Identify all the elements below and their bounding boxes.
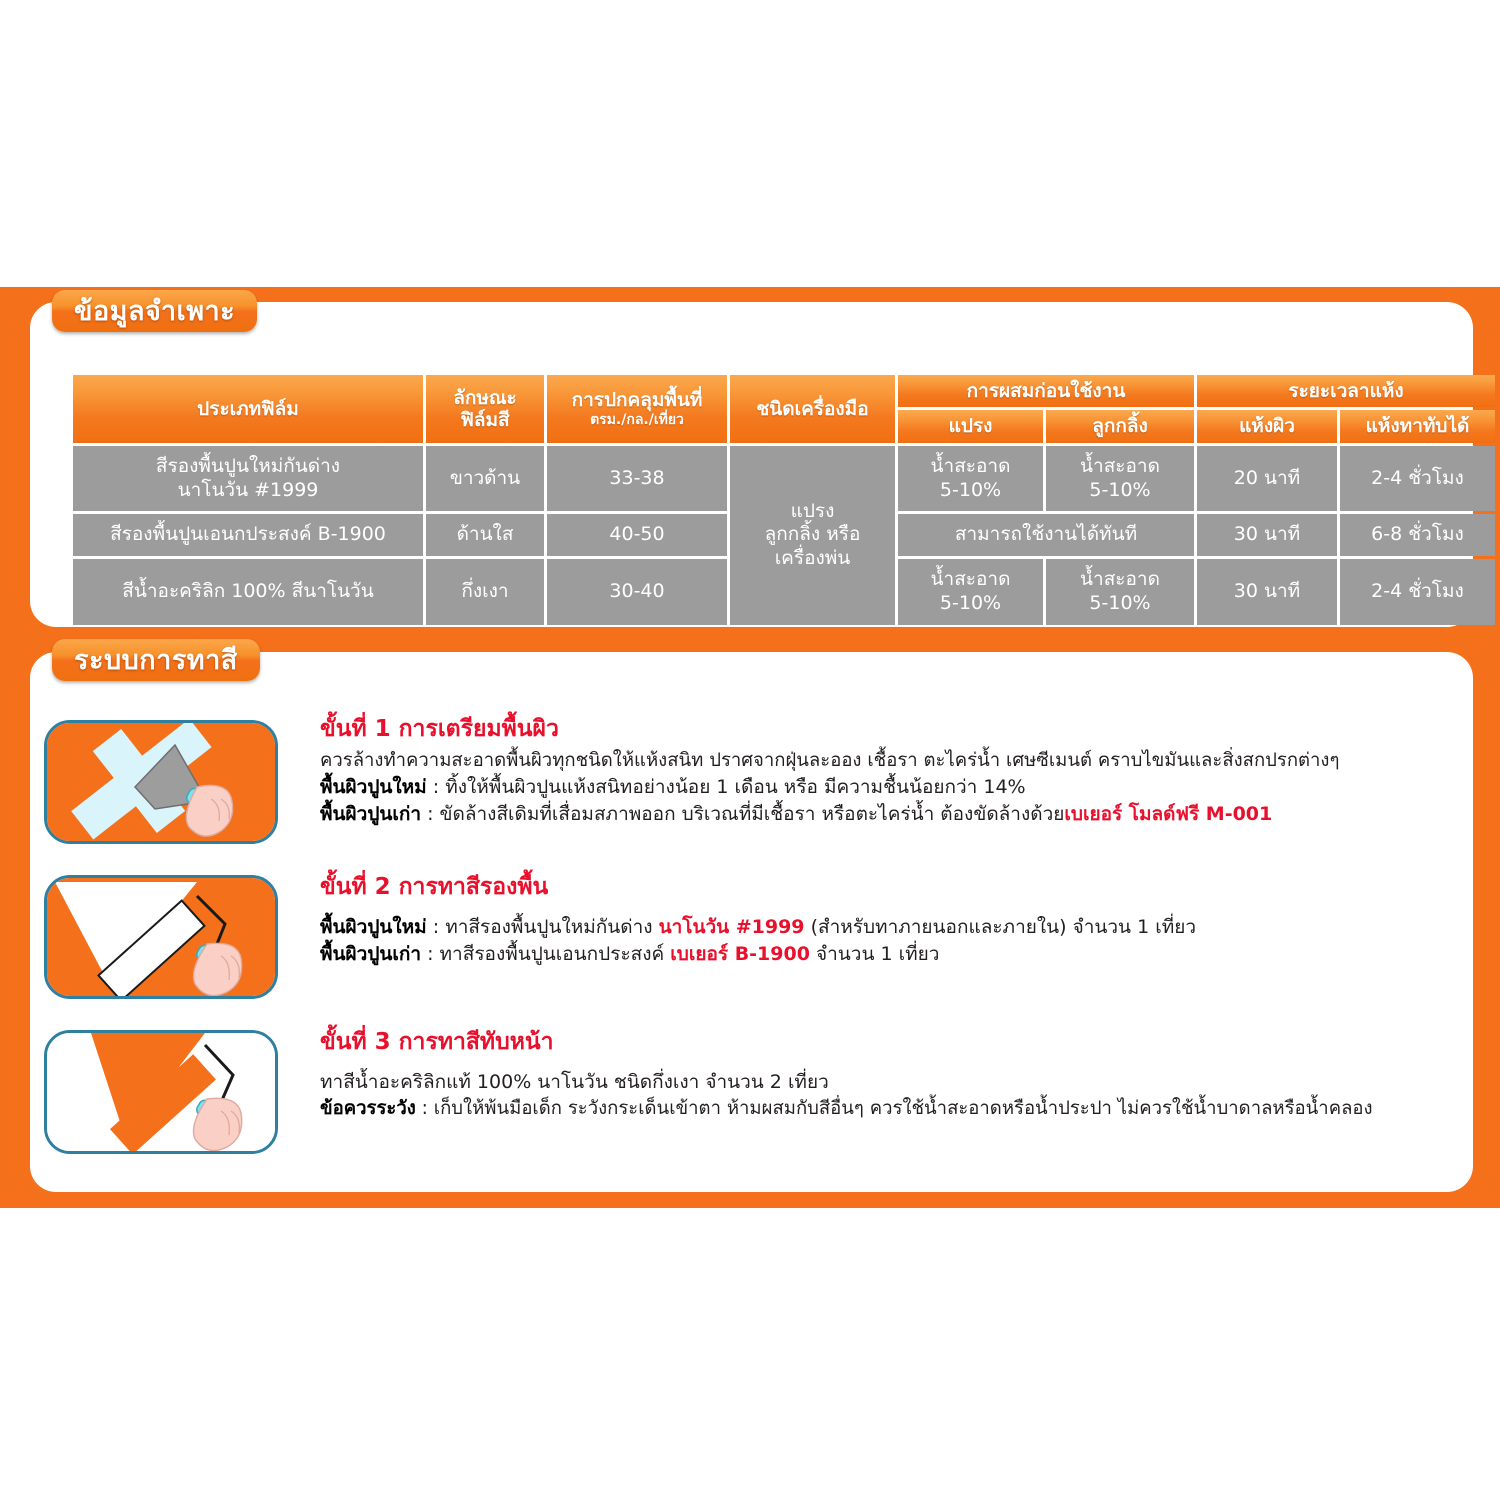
step-2-line-2-highlight: เบเยอร์ B-1900 — [670, 943, 810, 965]
product-name-line2: นาโนวัน #1999 — [178, 479, 319, 501]
step-2-line-2: พื้นผิวปูนเก่า : ทาสีรองพื้นปูนเอนกประสง… — [320, 941, 1196, 968]
step-2-title: ขั้นที่ 2 การทาสีรองพื้น — [320, 874, 1196, 902]
cell-coverage: 33-38 — [547, 446, 727, 512]
step-1-line-1: ควรล้างทำความสะอาดพื้นผิวทุกชนิดให้แห้งส… — [320, 748, 1339, 774]
step-3-body: ขั้นที่ 3 การทาสีทับหน้า ทาสีน้ำอะคริลิก… — [320, 1029, 1373, 1122]
header-mixing-group: การผสมก่อนใช้งาน — [898, 375, 1194, 407]
cell-dry-recoat: 2-4 ชั่วโมง — [1340, 559, 1495, 625]
roller-line1: น้ำสะอาด — [1080, 455, 1160, 477]
step-2-line-2-sep: : — [427, 943, 433, 965]
step-2-line-1: พื้นผิวปูนใหม่ : ทาสีรองพื้นปูนใหม่กันด่… — [320, 914, 1196, 941]
painting-system-panel: ระบบการทาสี ขั้นที่ 1 การเตรียมพื้น — [30, 652, 1473, 1192]
header-film-look-line2: ฟิล์มสี — [460, 409, 509, 431]
roller-line1: น้ำสะอาด — [1080, 568, 1160, 590]
tool-line2: ลูกกลิ้ง หรือ — [765, 523, 861, 545]
header-coverage: การปกคลุมพื้นที่ ตรม./กล./เที่ยว — [547, 375, 727, 443]
cell-product-name: สีรองพื้นปูนเอนกประสงค์ B-1900 — [73, 514, 423, 556]
header-drying-group: ระยะเวลาแห้ง — [1197, 375, 1495, 407]
step-2-line-1-tail: (สำหรับทาภายนอกและภายใน) จำนวน 1 เที่ยว — [805, 916, 1197, 938]
roller-primer-hand-icon — [44, 875, 278, 999]
cell-mixing-brush: น้ำสะอาด 5-10% — [898, 559, 1043, 625]
step-3-title: ขั้นที่ 3 การทาสีทับหน้า — [320, 1029, 1373, 1057]
step-1-line-3-text: ขัดล้างสีเดิมที่เสื่อมสภาพออก บริเวณที่ม… — [440, 803, 1065, 825]
step-3-line-2-label: ข้อควรระวัง — [320, 1098, 416, 1119]
cell-mixing-roller: น้ำสะอาด 5-10% — [1046, 559, 1194, 625]
scraper-hand-icon — [44, 720, 278, 844]
cell-mixing-merged: สามารถใช้งานได้ทันที — [898, 514, 1194, 556]
cell-product-name: สีรองพื้นปูนใหม่กันด่าง นาโนวัน #1999 — [73, 446, 423, 512]
table-header-row-1: ประเภทฟิล์ม ลักษณะ ฟิล์มสี การปกคลุมพื้น… — [73, 375, 1495, 407]
step-3-line-1: ทาสีน้ำอะคริลิกแท้ 100% นาโนวัน ชนิดกึ่ง… — [320, 1069, 1373, 1096]
roller-line2: 5-10% — [1089, 592, 1150, 614]
cell-coverage: 30-40 — [547, 559, 727, 625]
cell-dry-touch: 30 นาที — [1197, 514, 1337, 556]
step-1-line-3-highlight: เบเยอร์ โมลด์ฟรี M-001 — [1064, 803, 1272, 825]
step-2-line-2-label: พื้นผิวปูนเก่า — [320, 943, 421, 965]
step-3-line-2-text: เก็บให้พ้นมือเด็ก ระวังกระเด็นเข้าตา ห้า… — [434, 1098, 1373, 1119]
cell-mixing-brush: น้ำสะอาด 5-10% — [898, 446, 1043, 512]
tool-line3: เครื่องพ่น — [775, 547, 851, 569]
cell-film-look: ด้านใส — [426, 514, 544, 556]
step-1-body: ขั้นที่ 1 การเตรียมพื้นผิว ควรล้างทำความ… — [320, 716, 1339, 828]
header-coverage-line1: การปกคลุมพื้นที่ — [572, 389, 703, 411]
orange-frame: ข้อมูลจำเพาะ ประเภทฟิล์ม ลักษณะ ฟิล์มสี — [0, 287, 1500, 1208]
step-1-line-3-label: พื้นผิวปูนเก่า — [320, 803, 421, 825]
step-1-line-2: พื้นผิวปูนใหม่ : ทิ้งให้พื้นผิวปูนแห้งสน… — [320, 774, 1339, 801]
step-2-line-1-sep: : — [433, 916, 439, 938]
step-2-line-2-tail: จำนวน 1 เที่ยว — [810, 943, 939, 965]
header-film-look: ลักษณะ ฟิล์มสี — [426, 375, 544, 443]
header-mixing-roller: ลูกกลิ้ง — [1046, 410, 1194, 442]
specification-panel: ข้อมูลจำเพาะ ประเภทฟิล์ม ลักษณะ ฟิล์มสี — [30, 302, 1473, 627]
cell-dry-recoat: 2-4 ชั่วโมง — [1340, 446, 1495, 512]
roller-topcoat-hand-icon — [44, 1030, 278, 1154]
header-film-type: ประเภทฟิล์ม — [73, 375, 423, 443]
step-1-line-3: พื้นผิวปูนเก่า : ขัดล้างสีเดิมที่เสื่อมส… — [320, 801, 1339, 828]
brush-line2: 5-10% — [940, 592, 1001, 614]
cell-dry-recoat: 6-8 ชั่วโมง — [1340, 514, 1495, 556]
step-1-line-2-text: ทิ้งให้พื้นผิวปูนแห้งสนิทอย่างน้อย 1 เดื… — [445, 776, 1025, 798]
cell-film-look: ขาวด้าน — [426, 446, 544, 512]
header-coverage-line2: ตรม./กล./เที่ยว — [551, 412, 723, 429]
header-mixing-brush: แปรง — [898, 410, 1043, 442]
cell-tool-type: แปรง ลูกกลิ้ง หรือ เครื่องพ่น — [730, 446, 895, 625]
brush-line2: 5-10% — [940, 479, 1001, 501]
specification-section-title: ข้อมูลจำเพาะ — [74, 298, 235, 325]
step-1-title: ขั้นที่ 1 การเตรียมพื้นผิว — [320, 716, 1339, 744]
header-tool-type: ชนิดเครื่องมือ — [730, 375, 895, 443]
step-2-line-1-label: พื้นผิวปูนใหม่ — [320, 916, 427, 938]
brush-line1: น้ำสะอาด — [931, 455, 1011, 477]
step-1-line-2-sep: : — [433, 776, 439, 798]
step-3-line-2-sep: : — [422, 1098, 428, 1119]
step-2-line-2-text: ทาสีรองพื้นปูนเอนกประสงค์ — [440, 943, 671, 965]
cell-product-name: สีน้ำอะคริลิก 100% สีนาโนวัน — [73, 559, 423, 625]
step-2-body: ขั้นที่ 2 การทาสีรองพื้น พื้นผิวปูนใหม่ … — [320, 874, 1196, 968]
header-dry-touch: แห้งผิว — [1197, 410, 1337, 442]
system-section-pill: ระบบการทาสี — [52, 639, 260, 681]
step-2-line-1-text: ทาสีรองพื้นปูนใหม่กันด่าง — [445, 916, 658, 938]
roller-line2: 5-10% — [1089, 479, 1150, 501]
system-section-title: ระบบการทาสี — [74, 647, 238, 674]
header-dry-recoat: แห้งทาทับได้ — [1340, 410, 1495, 442]
table-row: สีรองพื้นปูนใหม่กันด่าง นาโนวัน #1999 ขา… — [73, 446, 1495, 512]
cell-coverage: 40-50 — [547, 514, 727, 556]
cell-dry-touch: 30 นาที — [1197, 559, 1337, 625]
specification-section-pill: ข้อมูลจำเพาะ — [52, 290, 257, 332]
product-datasheet-page: ข้อมูลจำเพาะ ประเภทฟิล์ม ลักษณะ ฟิล์มสี — [0, 0, 1500, 1500]
step-1-line-3-sep: : — [427, 803, 433, 825]
header-film-look-line1: ลักษณะ — [453, 387, 517, 409]
cell-film-look: กึ่งเงา — [426, 559, 544, 625]
cell-mixing-roller: น้ำสะอาด 5-10% — [1046, 446, 1194, 512]
step-3-line-2: ข้อควรระวัง : เก็บให้พ้นมือเด็ก ระวังกระ… — [320, 1096, 1373, 1122]
tool-line1: แปรง — [791, 500, 835, 522]
step-1-line-2-label: พื้นผิวปูนใหม่ — [320, 776, 427, 798]
product-name-line1: สีรองพื้นปูนใหม่กันด่าง — [156, 455, 340, 477]
brush-line1: น้ำสะอาด — [931, 568, 1011, 590]
specification-table: ประเภทฟิล์ม ลักษณะ ฟิล์มสี การปกคลุมพื้น… — [70, 372, 1498, 628]
cell-dry-touch: 20 นาที — [1197, 446, 1337, 512]
step-2-line-1-highlight: นาโนวัน #1999 — [659, 916, 805, 938]
